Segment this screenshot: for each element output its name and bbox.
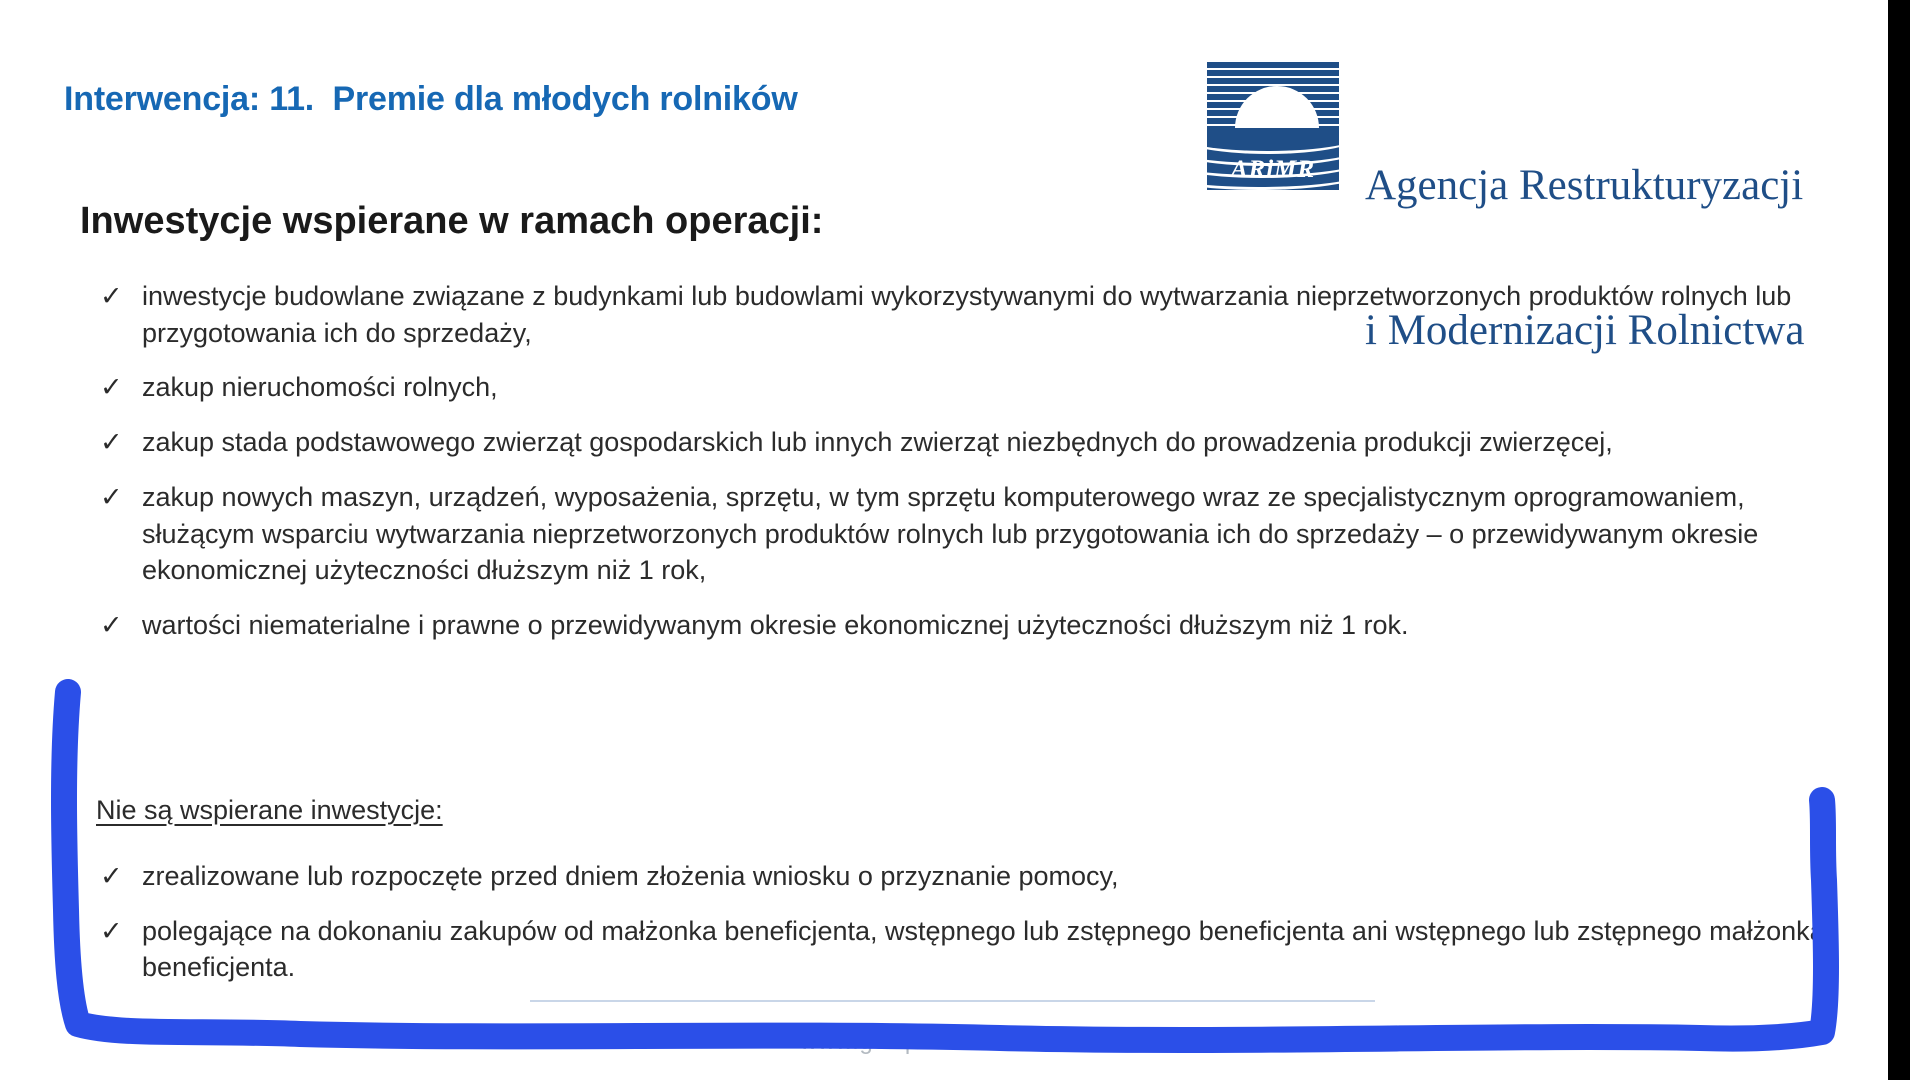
screen-right-border bbox=[1888, 0, 1910, 1080]
list-item-text: inwestycje budowlane związane z budynkam… bbox=[142, 278, 1826, 351]
list-item-text: polegające na dokonaniu zakupów od małżo… bbox=[142, 913, 1826, 986]
section-heading: Inwestycje wspierane w ramach operacji: bbox=[80, 200, 823, 243]
footer-divider bbox=[530, 1000, 1375, 1002]
page-title: Interwencja: 11. Premie dla młodych roln… bbox=[64, 80, 798, 119]
list-item-text: zakup nieruchomości rolnych, bbox=[142, 369, 498, 406]
list-item-text: zakup nowych maszyn, urządzeń, wyposażen… bbox=[142, 479, 1826, 589]
arimr-logo-mark-icon: ARiMR bbox=[1207, 62, 1339, 190]
list-item: ✓ zakup stada podstawowego zwierząt gosp… bbox=[96, 424, 1826, 461]
list-item-text: wartości niematerialne i prawne o przewi… bbox=[142, 607, 1409, 644]
list-item-text: zakup stada podstawowego zwierząt gospod… bbox=[142, 424, 1613, 461]
check-icon: ✓ bbox=[96, 424, 142, 461]
slide-canvas: Interwencja: 11. Premie dla młodych roln… bbox=[0, 0, 1888, 1080]
list-item: ✓ zakup nowych maszyn, urządzeń, wyposaż… bbox=[96, 479, 1826, 589]
list-item: ✓ polegające na dokonaniu zakupów od mał… bbox=[96, 913, 1826, 986]
check-icon: ✓ bbox=[96, 369, 142, 406]
logo-acronym: ARiMR bbox=[1207, 156, 1339, 184]
excluded-investments-list: ✓ zrealizowane lub rozpoczęte przed dnie… bbox=[96, 858, 1826, 1004]
list-item-text: zrealizowane lub rozpoczęte przed dniem … bbox=[142, 858, 1119, 895]
check-icon: ✓ bbox=[96, 858, 142, 895]
logo-wordmark-line-1: Agencja Restrukturyzacji bbox=[1365, 162, 1804, 210]
footer-url: www.gov.pl/web/arimr bbox=[800, 1028, 1042, 1056]
check-icon: ✓ bbox=[96, 479, 142, 516]
list-item: ✓ wartości niematerialne i prawne o prze… bbox=[96, 607, 1826, 644]
list-item: ✓ zakup nieruchomości rolnych, bbox=[96, 369, 1826, 406]
list-item: ✓ zrealizowane lub rozpoczęte przed dnie… bbox=[96, 858, 1826, 895]
supported-investments-list: ✓ inwestycje budowlane związane z budynk… bbox=[96, 278, 1826, 662]
check-icon: ✓ bbox=[96, 607, 142, 644]
check-icon: ✓ bbox=[96, 278, 142, 315]
check-icon: ✓ bbox=[96, 913, 142, 950]
excluded-investments-heading: Nie są wspierane inwestycje: bbox=[96, 795, 443, 826]
list-item: ✓ inwestycje budowlane związane z budynk… bbox=[96, 278, 1826, 351]
